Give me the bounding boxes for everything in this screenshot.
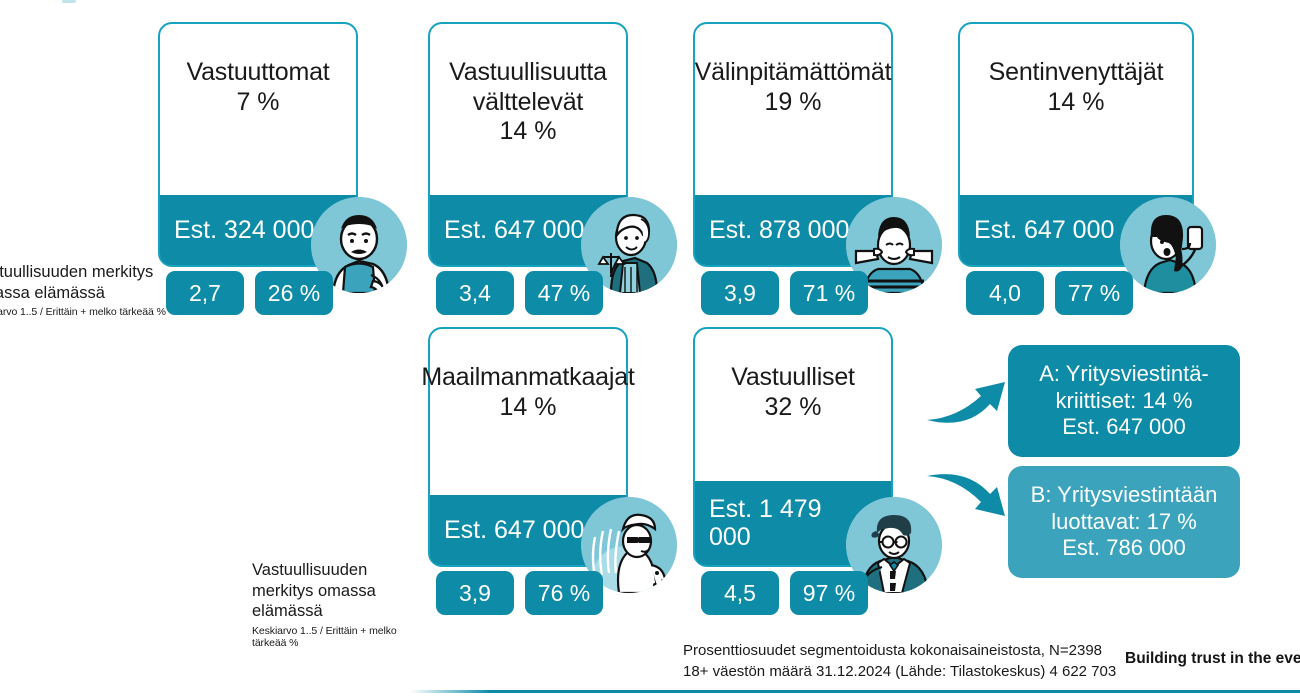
result-box-a-line2: kriittiset: 14 %	[1056, 388, 1193, 415]
segment-score-pill[interactable]: 3,4	[436, 271, 514, 315]
footnote-line-1: Prosenttiosuudet segmentoidusta kokonais…	[683, 640, 1116, 661]
segment-metrics-sentinvenyttajat: 4,0 77 %	[966, 271, 1133, 315]
segment-score-pill[interactable]: 4,5	[701, 571, 779, 615]
segment-title: Vastuuttomat	[180, 58, 335, 88]
woman-with-phone-avatar	[1120, 197, 1216, 293]
side-label-bottom-main: Vastuullisuuden merkitys omassa elämässä	[252, 560, 432, 622]
segment-percent: 14 %	[1048, 88, 1105, 118]
arrow-to-group-a-icon	[925, 372, 1015, 434]
segment-title: Vastuulliset	[725, 363, 861, 393]
result-box-group-b[interactable]: B: Yritysviestintään luottavat: 17 % Est…	[1008, 466, 1240, 578]
segment-share-pill[interactable]: 77 %	[1055, 271, 1133, 315]
result-box-group-a[interactable]: A: Yritysviestintä- kriittiset: 14 % Est…	[1008, 345, 1240, 457]
segment-percent: 7 %	[236, 88, 279, 118]
segment-card-header: Maailmanmatkaajat 14 %	[430, 329, 626, 499]
segment-percent: 14 %	[500, 117, 557, 147]
segment-card-header: Sentinvenyttäjät 14 %	[960, 24, 1192, 194]
segment-estimate: Est. 878 000	[695, 216, 849, 245]
footnote: Prosenttiosuudet segmentoidusta kokonais…	[683, 640, 1116, 683]
segment-share-pill[interactable]: 47 %	[525, 271, 603, 315]
result-box-b-line3: Est. 786 000	[1062, 535, 1186, 562]
segment-share-pill[interactable]: 26 %	[255, 271, 333, 315]
segment-estimate: Est. 647 000	[430, 216, 584, 245]
segment-metrics-vastuullisuutta-valttelevat: 3,4 47 %	[436, 271, 603, 315]
side-label-bottom-sub: Keskiarvo 1..5 / Erittäin + melko tärkeä…	[252, 625, 432, 649]
segment-estimate: Est. 647 000	[960, 216, 1114, 245]
segment-estimate: Est. 324 000	[160, 216, 314, 245]
result-box-b-line2: luottavat: 17 %	[1051, 509, 1197, 536]
result-box-b-line1: B: Yritysviestintään	[1031, 482, 1218, 509]
segment-card-header: Vastuulliset 32 %	[695, 329, 891, 499]
brand-tagline: Building trust in the everyda	[1125, 650, 1300, 668]
segment-card-header: Välinpitämättömät 19 %	[695, 24, 891, 194]
segment-score-pill[interactable]: 4,0	[966, 271, 1044, 315]
segment-score-pill[interactable]: 2,7	[166, 271, 244, 315]
segment-percent: 19 %	[765, 88, 822, 118]
side-label-top-sub: Keskiarvo 1..5 / Erittäin + melko tärkeä…	[0, 306, 172, 318]
segment-share-pill[interactable]: 76 %	[525, 571, 603, 615]
segment-percent: 14 %	[500, 393, 557, 423]
side-label-top-main: Vastuullisuuden merkitys omassa elämässä	[0, 262, 172, 303]
segment-estimate: Est. 1 479 000	[695, 495, 850, 552]
side-label-top: Vastuullisuuden merkitys omassa elämässä…	[0, 262, 172, 318]
segment-metrics-vastuulliset: 4,5 97 %	[701, 571, 868, 615]
segment-title: Välinpitämättömät	[689, 58, 898, 88]
segment-card-header: Vastuullisuutta välttelevät 14 %	[430, 24, 626, 194]
segment-share-pill[interactable]: 97 %	[790, 571, 868, 615]
result-box-a-line3: Est. 647 000	[1062, 414, 1186, 441]
side-label-bottom: Vastuullisuuden merkitys omassa elämässä…	[252, 560, 432, 649]
segment-estimate: Est. 647 000	[430, 516, 584, 545]
bottom-accent-rule	[410, 690, 1300, 693]
segment-metrics-vastuuttomat: 2,7 26 %	[166, 271, 333, 315]
segment-title: Vastuullisuutta välttelevät	[430, 58, 626, 117]
footnote-line-2: 18+ väestön määrä 31.12.2024 (Lähde: Til…	[683, 661, 1116, 682]
segment-metrics-valinpitamattomat: 3,9 71 %	[701, 271, 868, 315]
segment-title: Maailmanmatkaajat	[415, 363, 640, 393]
segment-title: Sentinvenyttäjät	[983, 58, 1170, 88]
result-box-a-line1: A: Yritysviestintä-	[1039, 361, 1209, 388]
segment-share-pill[interactable]: 71 %	[790, 271, 868, 315]
segment-score-pill[interactable]: 3,9	[701, 271, 779, 315]
segment-metrics-maailmanmatkaajat: 3,9 76 %	[436, 571, 603, 615]
infographic-canvas: Vastuullisuuden merkitys omassa elämässä…	[0, 0, 1300, 700]
top-decoration-mark	[62, 0, 76, 3]
segment-percent: 32 %	[765, 393, 822, 423]
arrow-to-group-b-icon	[925, 466, 1015, 528]
segment-card-header: Vastuuttomat 7 %	[160, 24, 356, 194]
segment-score-pill[interactable]: 3,9	[436, 571, 514, 615]
